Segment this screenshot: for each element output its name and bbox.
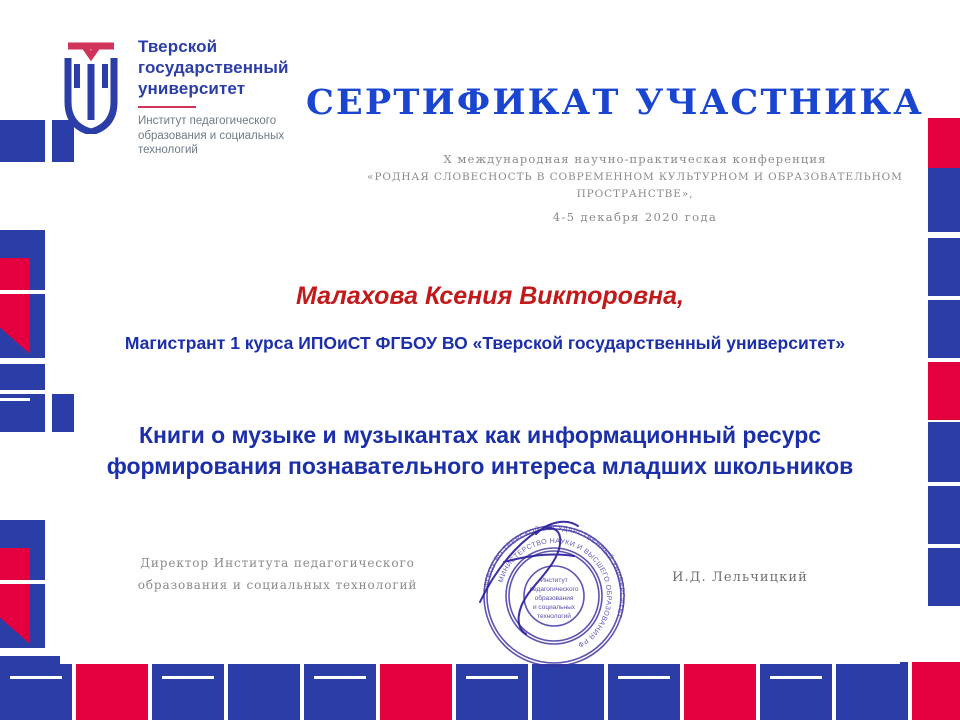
border-block: [0, 120, 45, 162]
border-notch: [618, 676, 670, 679]
border-pennant: [0, 258, 30, 354]
border-block: [836, 662, 908, 720]
border-pennant: [0, 548, 30, 644]
border-block: [928, 422, 960, 482]
logo-institute-line3: технологий: [138, 143, 328, 158]
recipient-name: Малахова Ксения Викторовна,: [110, 282, 870, 311]
border-notch: [0, 398, 30, 401]
border-notch: [0, 290, 45, 294]
border-block: [684, 662, 756, 720]
signatory-role-line1: Директор Института педагогического: [105, 552, 450, 574]
work-title: Книги о музыке и музыкантах как информац…: [70, 420, 890, 482]
border-block: [928, 486, 960, 544]
border-block: [380, 662, 452, 720]
border-block: [928, 362, 960, 420]
conference-date: 4-5 декабря 2020 года: [330, 208, 940, 227]
tvsu-shield-icon: [60, 42, 122, 134]
conference-line-1: X международная научно-практическая конф…: [330, 150, 940, 169]
border-notch: [770, 676, 822, 679]
certificate-title: СЕРТИФИКАТ УЧАСТНИКА: [300, 82, 930, 123]
border-block: [0, 364, 45, 390]
university-logo: Тверской государственный университет Инс…: [60, 36, 330, 186]
border-notch: [466, 676, 518, 679]
logo-university-line2: государственный: [138, 57, 328, 78]
border-notch: [314, 676, 366, 679]
svg-text:и социальных: и социальных: [533, 604, 576, 611]
svg-text:педагогического: педагогического: [530, 586, 579, 593]
border-notch: [162, 676, 214, 679]
recipient-affiliation: Магистрант 1 курса ИПОиСТ ФГБОУ ВО «Твер…: [110, 330, 860, 357]
official-seal: ФГБОУ ВО ТВЕРСКОЙ ГОСУДАРСТВЕННЫЙ УНИВЕР…: [474, 516, 634, 676]
border-block: [928, 300, 960, 358]
border-block: [228, 662, 300, 720]
signatory-role-line2: образования и социальных технологий: [105, 574, 450, 596]
border-block: [760, 656, 832, 720]
border-block: [76, 662, 148, 720]
border-notch: [0, 580, 45, 584]
border-block: [0, 656, 72, 720]
certificate-page: Тверской государственный университет Инс…: [0, 0, 960, 720]
svg-text:технологий: технологий: [537, 612, 571, 620]
signatory-name: И.Д. Лельчицкий: [640, 570, 840, 585]
conference-line-2: «РОДНАЯ СЛОВЕСНОСТЬ В СОВРЕМЕННОМ КУЛЬТУ…: [330, 169, 940, 186]
conference-details: X международная научно-практическая конф…: [330, 150, 940, 227]
svg-text:образования: образования: [535, 594, 574, 602]
border-block: [928, 548, 960, 606]
border-block: [928, 238, 960, 296]
conference-line-3: ПРОСТРАНСТВЕ»,: [330, 186, 940, 203]
svg-text:Институт: Институт: [540, 577, 567, 584]
logo-university-line1: Тверской: [138, 36, 328, 57]
border-block: [912, 662, 960, 720]
border-block: [304, 656, 376, 720]
border-block: [152, 656, 224, 720]
logo-divider: [138, 106, 196, 108]
signatory-role: Директор Института педагогического образ…: [105, 552, 450, 596]
border-notch: [10, 676, 62, 679]
logo-institute-line2: образования и социальных: [138, 129, 328, 144]
